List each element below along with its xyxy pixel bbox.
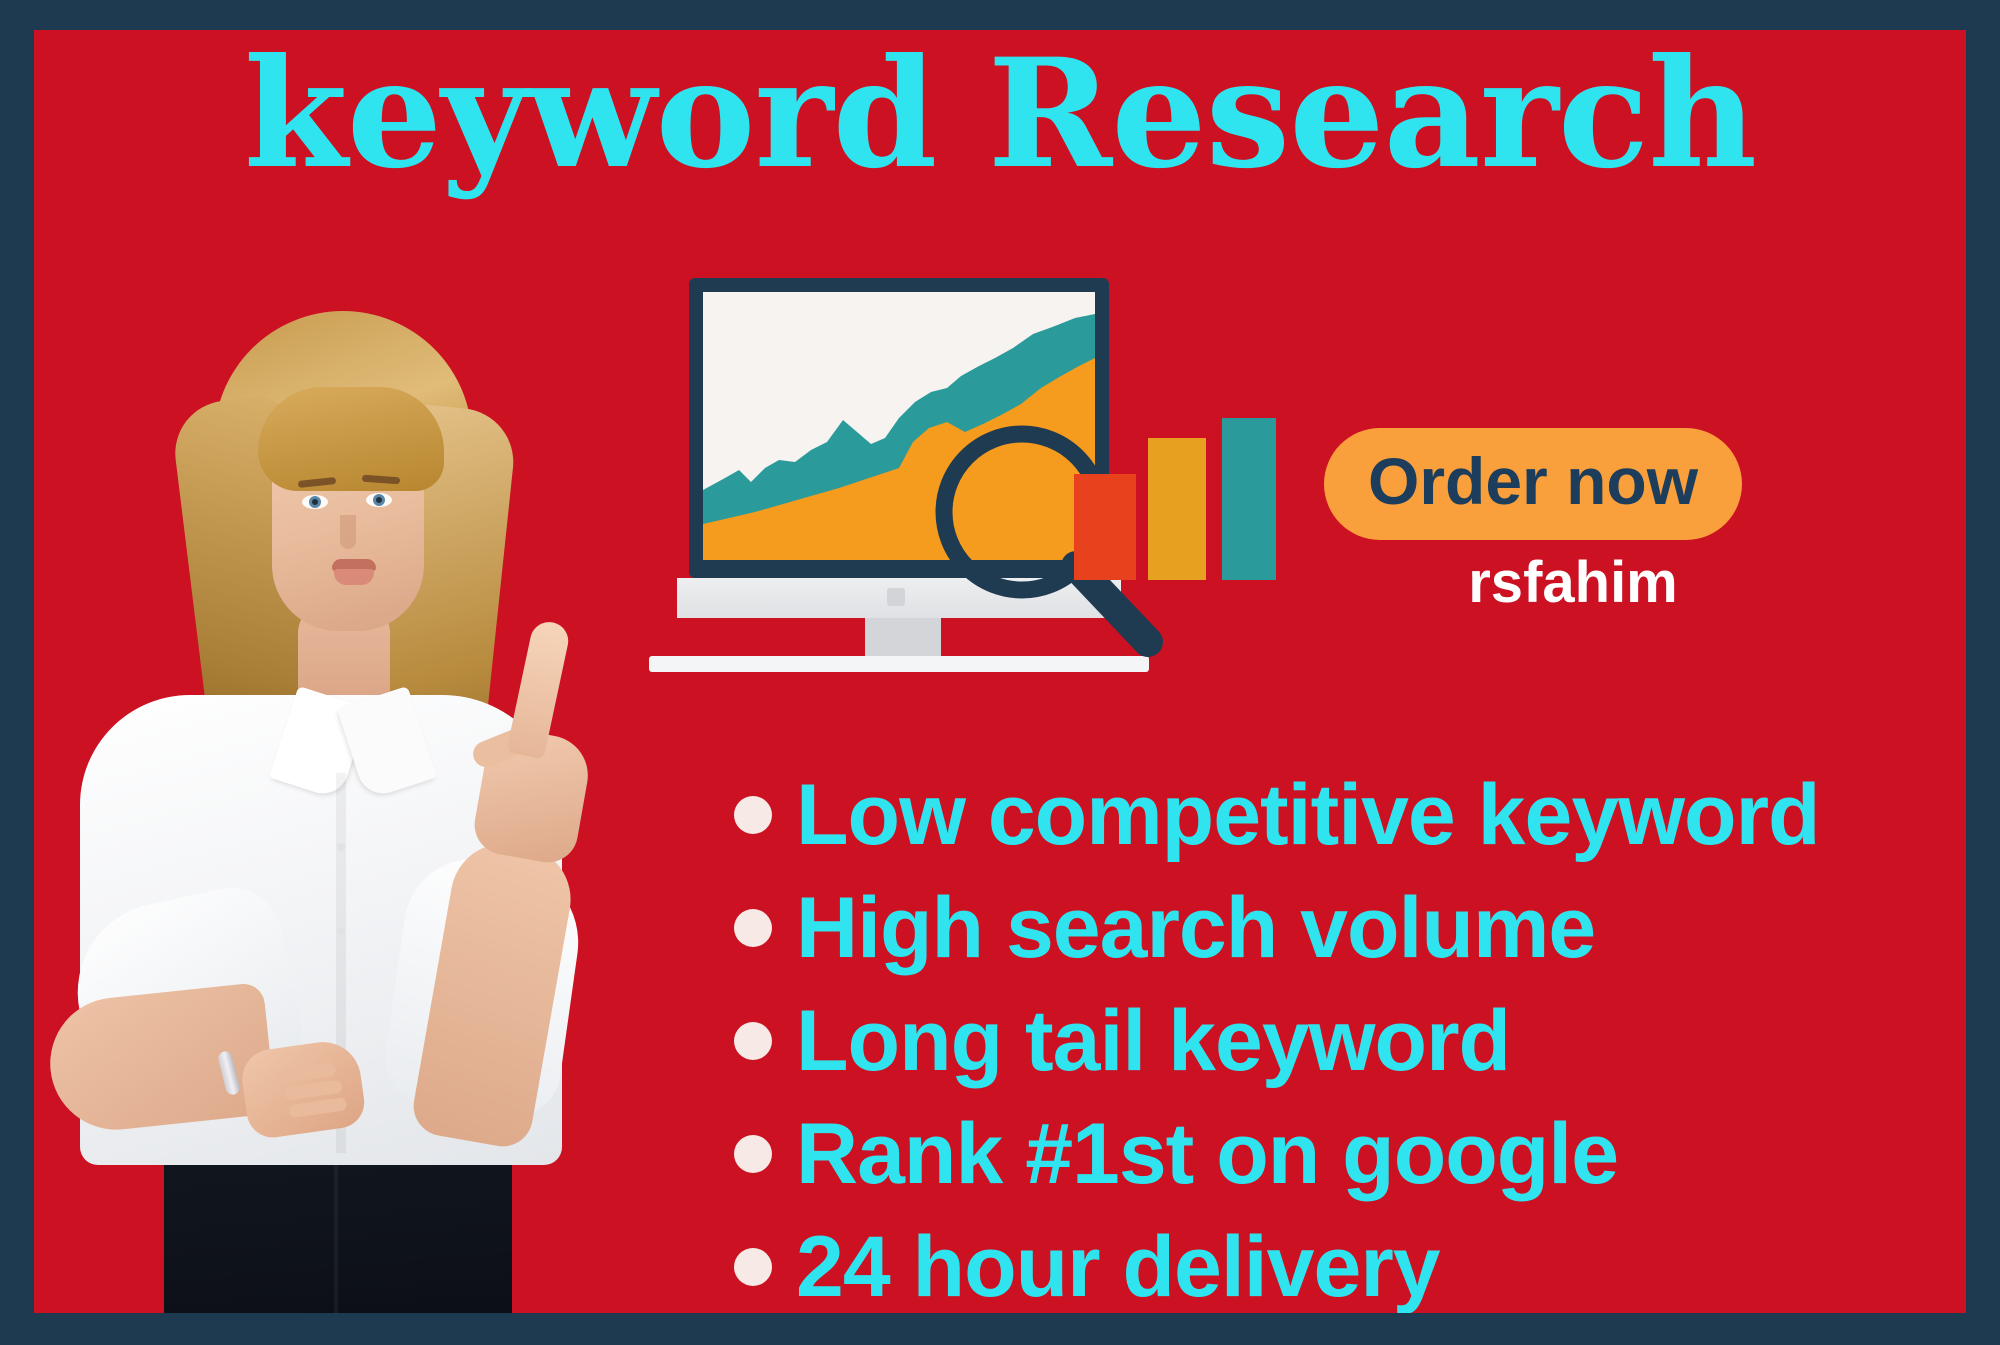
shirt-button (337, 1011, 345, 1019)
bar-chart-graphic (1074, 418, 1274, 580)
seller-name: rsfahim (1324, 554, 1822, 612)
shirt-button (337, 843, 345, 851)
bullet-dot-icon (734, 1248, 772, 1286)
feature-label: Low competitive keyword (796, 772, 1820, 858)
monitor-power-button (887, 588, 905, 606)
list-item: Low competitive keyword (734, 758, 1966, 871)
businesswoman-pointing-photo (44, 303, 604, 1313)
bullet-dot-icon (734, 909, 772, 947)
feature-label: 24 hour delivery (796, 1224, 1440, 1310)
bullet-dot-icon (734, 1135, 772, 1173)
list-item: Long tail keyword (734, 984, 1966, 1097)
eye-left (302, 495, 328, 509)
bullet-dot-icon (734, 796, 772, 834)
trouser-seam (334, 1163, 338, 1313)
bar-3 (1222, 418, 1276, 580)
cta-block: Order now rsfahim (1324, 428, 1844, 612)
desktop-monitor-icon (689, 278, 1109, 578)
list-item: 24 hour delivery (734, 1210, 1966, 1313)
list-item: Rank #1st on google (734, 1097, 1966, 1210)
keyword-research-banner: keyword Research (0, 0, 2000, 1345)
bullet-dot-icon (734, 1022, 772, 1060)
feature-label: High search volume (796, 885, 1595, 971)
hair-fringe (258, 387, 444, 491)
banner-canvas: keyword Research (34, 30, 1966, 1313)
feature-label: Rank #1st on google (796, 1111, 1618, 1197)
nose (340, 515, 356, 549)
feature-list: Low competitive keyword High search volu… (734, 758, 1966, 1313)
shirt-button (337, 927, 345, 935)
feature-label: Long tail keyword (796, 998, 1510, 1084)
list-item: High search volume (734, 871, 1966, 984)
page-title: keyword Research (34, 36, 1966, 194)
lip-lower (334, 569, 374, 585)
order-now-button[interactable]: Order now (1324, 428, 1742, 540)
bar-1 (1074, 474, 1136, 580)
eye-right (366, 493, 392, 507)
hand-on-hip (238, 1037, 367, 1141)
bar-2 (1148, 438, 1206, 580)
